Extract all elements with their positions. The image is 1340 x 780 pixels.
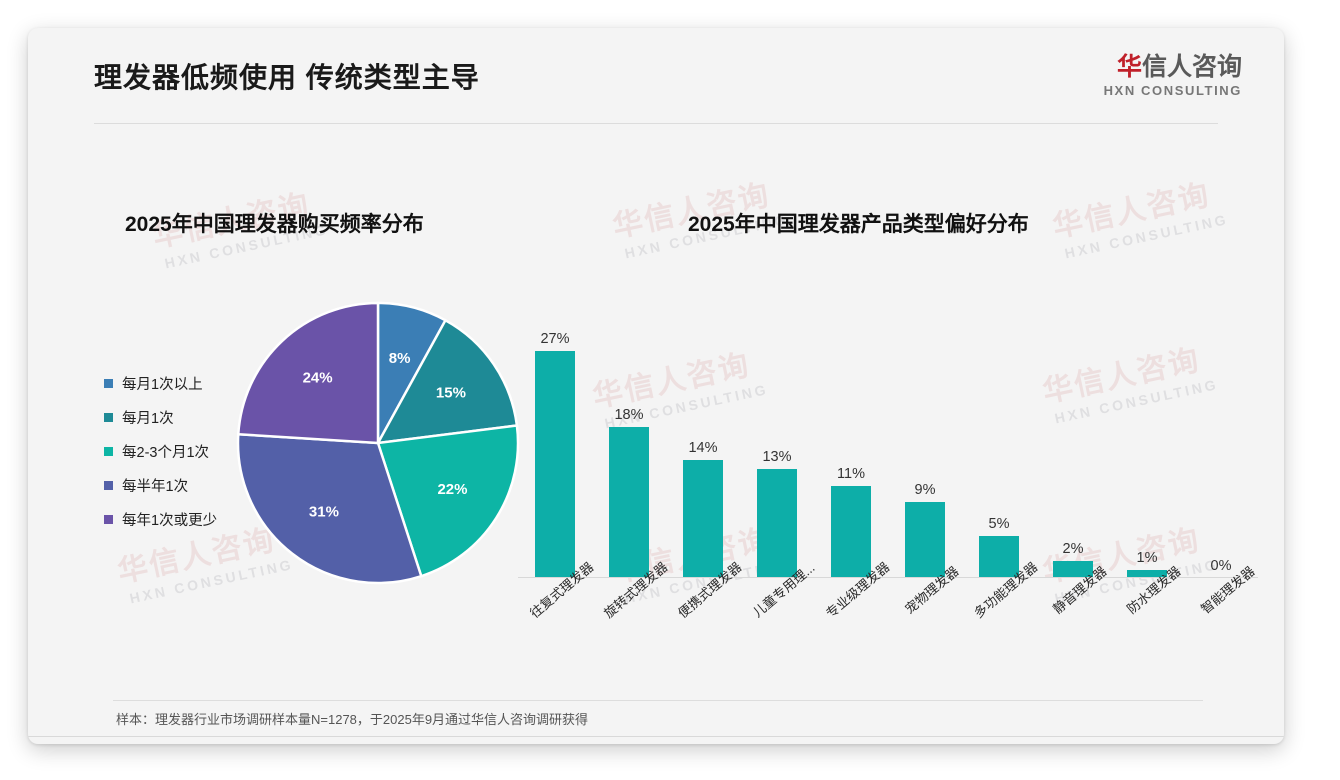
pie-legend-label: 每半年1次: [122, 475, 188, 496]
bar-chart: 27%18%14%13%11%9%5%2%1%0% 往复式理发器旋转式理发器便携…: [518, 278, 1258, 578]
pie-legend-label: 每年1次或更少: [122, 509, 217, 530]
bar-column[interactable]: 0%: [1184, 298, 1258, 578]
bar-column[interactable]: 27%: [518, 298, 592, 578]
bar-x-label-cell: 便携式理发器: [666, 580, 740, 690]
bar-value-label: 27%: [540, 331, 569, 347]
logo-en-text: HXN CONSULTING: [1104, 83, 1242, 98]
pie-legend-label: 每2-3个月1次: [122, 441, 209, 462]
pie-slice-value-label: 15%: [436, 384, 466, 401]
pie-legend-item[interactable]: 每2-3个月1次: [104, 434, 217, 468]
bar-x-label-cell: 儿童专用理...: [740, 580, 814, 690]
bar-x-axis-labels: 往复式理发器旋转式理发器便携式理发器儿童专用理...专业级理发器宠物理发器多功能…: [518, 580, 1258, 690]
logo-rest-text: 信人咨询: [1142, 53, 1242, 81]
bar-value-label: 18%: [614, 407, 643, 423]
bar-value-label: 1%: [1137, 550, 1158, 566]
bar-column[interactable]: 9%: [888, 298, 962, 578]
pie-slice-value-label: 31%: [309, 504, 339, 521]
page-title: 理发器低频使用 传统类型主导: [94, 56, 480, 96]
logo-accent-char: 华: [1117, 53, 1142, 81]
bar-column[interactable]: 1%: [1110, 298, 1184, 578]
bar-plot-area: 27%18%14%13%11%9%5%2%1%0%: [518, 298, 1258, 578]
brand-logo: 华信人咨询 HXN CONSULTING: [1104, 54, 1242, 98]
bar-rect[interactable]: [535, 351, 575, 578]
pie-chart: 每月1次以上每月1次每2-3个月1次每半年1次每年1次或更少 8%15%22%3…: [88, 273, 548, 613]
legend-swatch-icon: [104, 379, 113, 388]
bar-x-label-cell: 专业级理发器: [814, 580, 888, 690]
bar-value-label: 2%: [1063, 541, 1084, 557]
bar-column[interactable]: 2%: [1036, 298, 1110, 578]
footer-divider: [28, 736, 1284, 737]
pie-legend-label: 每月1次: [122, 407, 174, 428]
bar-chart-title: 2025年中国理发器产品类型偏好分布: [688, 208, 1029, 238]
bar-rect[interactable]: [609, 427, 649, 578]
logo-cn-text: 华信人咨询: [1104, 54, 1242, 80]
header-divider: [94, 123, 1218, 124]
legend-swatch-icon: [104, 447, 113, 456]
bar-x-label-cell: 旋转式理发器: [592, 580, 666, 690]
bar-column[interactable]: 14%: [666, 298, 740, 578]
pie-legend-item[interactable]: 每月1次以上: [104, 366, 217, 400]
bar-x-label-cell: 智能理发器: [1184, 580, 1258, 690]
source-note: 样本：理发器行业市场调研样本量N=1278，于2025年9月通过华信人咨询调研获…: [116, 709, 588, 728]
pie-legend-item[interactable]: 每月1次: [104, 400, 217, 434]
legend-swatch-icon: [104, 481, 113, 490]
bar-value-label: 9%: [915, 482, 936, 498]
legend-swatch-icon: [104, 413, 113, 422]
bar-x-label-cell: 静音理发器: [1036, 580, 1110, 690]
bar-rect[interactable]: [905, 502, 945, 578]
pie-slice-value-label: 8%: [389, 350, 411, 367]
pie-legend: 每月1次以上每月1次每2-3个月1次每半年1次每年1次或更少: [104, 366, 217, 536]
pie-legend-item[interactable]: 每年1次或更少: [104, 502, 217, 536]
bar-column[interactable]: 5%: [962, 298, 1036, 578]
bar-value-label: 13%: [762, 449, 791, 465]
pie-chart-svg: 8%15%22%31%24%: [228, 288, 528, 598]
bar-column[interactable]: 18%: [592, 298, 666, 578]
bar-x-label-cell: 防水理发器: [1110, 580, 1184, 690]
watermark-cn: 华信人咨询: [1048, 167, 1226, 246]
bar-baseline-axis: [518, 577, 1258, 578]
source-divider: [113, 700, 1203, 701]
pie-slice-value-label: 24%: [303, 370, 333, 387]
bar-value-label: 14%: [688, 440, 717, 456]
slide-header: 理发器低频使用 传统类型主导 华信人咨询 HXN CONSULTING: [28, 28, 1284, 123]
watermark: 华信人咨询 HXN CONSULTING: [1048, 167, 1230, 263]
pie-chart-title: 2025年中国理发器购买频率分布: [125, 208, 424, 238]
bar-column[interactable]: 13%: [740, 298, 814, 578]
watermark-en: HXN CONSULTING: [1063, 211, 1230, 261]
bar-column[interactable]: 11%: [814, 298, 888, 578]
bar-rect[interactable]: [683, 460, 723, 578]
legend-swatch-icon: [104, 515, 113, 524]
bar-rect[interactable]: [831, 486, 871, 578]
bar-x-label-cell: 多功能理发器: [962, 580, 1036, 690]
bar-x-label-cell: 往复式理发器: [518, 580, 592, 690]
pie-slice-value-label: 22%: [437, 481, 467, 498]
bar-value-label: 11%: [837, 466, 865, 482]
bar-x-label-cell: 宠物理发器: [888, 580, 962, 690]
bar-value-label: 5%: [989, 516, 1010, 532]
bar-value-label: 0%: [1211, 558, 1232, 574]
pie-legend-item[interactable]: 每半年1次: [104, 468, 217, 502]
slide-canvas: 华信人咨询 HXN CONSULTING 华信人咨询 HXN CONSULTIN…: [28, 28, 1284, 744]
bar-rect[interactable]: [757, 469, 797, 578]
pie-legend-label: 每月1次以上: [122, 373, 203, 394]
